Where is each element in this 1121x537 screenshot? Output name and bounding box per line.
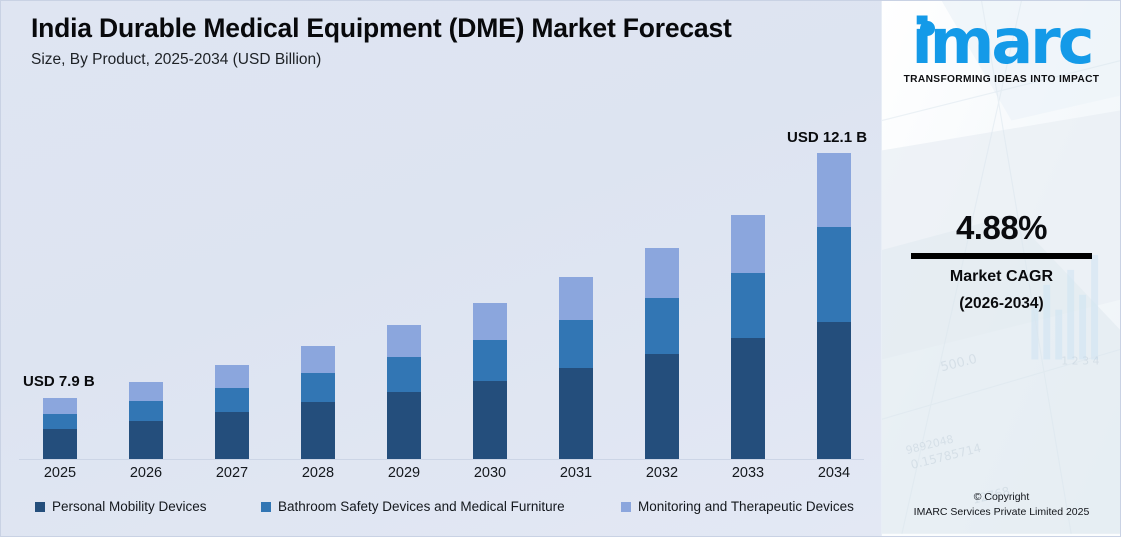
copyright-notice: © Copyright IMARC Services Private Limit… xyxy=(882,490,1120,520)
bar-segment-2033-s2 xyxy=(731,215,765,273)
bar-segment-2026-s0 xyxy=(129,421,163,459)
bar-2025 xyxy=(43,398,77,459)
bar-segment-2034-s1 xyxy=(817,227,851,322)
bar-2034 xyxy=(817,153,851,459)
bar-segment-2033-s0 xyxy=(731,338,765,459)
bar-segment-2031-s2 xyxy=(559,277,593,320)
bar-segment-2030-s2 xyxy=(473,303,507,340)
brand-panel: 500.0 0.15785714 12768 9892048 1 2 3 4 i… xyxy=(881,1,1120,536)
legend-label-0: Personal Mobility Devices xyxy=(52,499,207,514)
bar-segment-2033-s1 xyxy=(731,273,765,338)
x-tick-2027: 2027 xyxy=(202,465,262,481)
bar-segment-2029-s2 xyxy=(387,325,421,357)
svg-text:1 2 3 4: 1 2 3 4 xyxy=(1061,354,1099,367)
bar-segment-2027-s1 xyxy=(215,388,249,412)
bar-segment-2028-s2 xyxy=(301,346,335,373)
bar-segment-2032-s2 xyxy=(645,248,679,298)
legend-swatch-icon-2 xyxy=(621,502,631,512)
x-tick-2028: 2028 xyxy=(288,465,348,481)
bar-2028 xyxy=(301,346,335,459)
legend-label-1: Bathroom Safety Devices and Medical Furn… xyxy=(278,499,565,514)
plot-area: USD 7.9 B USD 12.1 B xyxy=(1,1,881,461)
bar-2026 xyxy=(129,382,163,459)
x-tick-2026: 2026 xyxy=(116,465,176,481)
bar-2027 xyxy=(215,365,249,459)
imarc-logo-text: imarc xyxy=(911,5,1091,78)
bar-2029 xyxy=(387,325,421,459)
chart-legend: Personal Mobility DevicesBathroom Safety… xyxy=(1,499,881,514)
legend-item-1[interactable]: Bathroom Safety Devices and Medical Furn… xyxy=(261,499,621,514)
bar-2033 xyxy=(731,215,765,459)
cagr-label: Market CAGR xyxy=(882,268,1120,286)
legend-label-2: Monitoring and Therapeutic Devices xyxy=(638,499,854,514)
bar-2032 xyxy=(645,248,679,459)
legend-swatch-icon-1 xyxy=(261,502,271,512)
bar-segment-2034-s2 xyxy=(817,153,851,227)
x-tick-2030: 2030 xyxy=(460,465,520,481)
bar-segment-2026-s1 xyxy=(129,401,163,421)
bar-segment-2029-s1 xyxy=(387,357,421,392)
x-tick-2034: 2034 xyxy=(804,465,864,481)
bar-segment-2034-s0 xyxy=(817,322,851,459)
bar-segment-2031-s0 xyxy=(559,368,593,459)
chart-infographic: India Durable Medical Equipment (DME) Ma… xyxy=(0,0,1121,537)
bar-segment-2030-s1 xyxy=(473,340,507,381)
bar-segment-2029-s0 xyxy=(387,392,421,459)
bar-segment-2028-s1 xyxy=(301,373,335,402)
x-tick-2031: 2031 xyxy=(546,465,606,481)
bar-2030 xyxy=(473,303,507,459)
bar-segment-2025-s1 xyxy=(43,414,77,429)
end-value-label: USD 12.1 B xyxy=(787,129,867,146)
bar-segment-2030-s0 xyxy=(473,381,507,459)
x-tick-2025: 2025 xyxy=(30,465,90,481)
copyright-line-1: © Copyright xyxy=(882,490,1120,505)
cagr-divider xyxy=(911,253,1092,259)
bar-segment-2031-s1 xyxy=(559,320,593,368)
copyright-line-2: IMARC Services Private Limited 2025 xyxy=(882,505,1120,520)
bar-segment-2025-s2 xyxy=(43,398,77,414)
bar-2031 xyxy=(559,277,593,459)
cagr-value: 4.88% xyxy=(882,209,1120,247)
legend-swatch-icon-0 xyxy=(35,502,45,512)
bar-segment-2025-s0 xyxy=(43,429,77,459)
legend-item-0[interactable]: Personal Mobility Devices xyxy=(35,499,261,514)
bar-segment-2032-s0 xyxy=(645,354,679,459)
x-tick-2033: 2033 xyxy=(718,465,778,481)
bar-segment-2026-s2 xyxy=(129,382,163,401)
start-value-label: USD 7.9 B xyxy=(23,373,95,390)
bar-segment-2027-s0 xyxy=(215,412,249,459)
bar-segment-2028-s0 xyxy=(301,402,335,459)
x-axis-labels: 2025202620272028202920302031203220332034 xyxy=(1,465,881,491)
bar-segment-2032-s1 xyxy=(645,298,679,354)
imarc-logo: imarc TRANSFORMING IDEAS INTO IMPACT xyxy=(882,13,1120,85)
cagr-block: 4.88% Market CAGR (2026-2034) xyxy=(882,209,1120,313)
bar-segment-2027-s2 xyxy=(215,365,249,388)
legend-item-2[interactable]: Monitoring and Therapeutic Devices xyxy=(621,499,854,514)
cagr-period: (2026-2034) xyxy=(882,295,1120,313)
x-tick-2029: 2029 xyxy=(374,465,434,481)
x-axis-baseline xyxy=(19,459,864,460)
x-tick-2032: 2032 xyxy=(632,465,692,481)
chart-panel: India Durable Medical Equipment (DME) Ma… xyxy=(1,1,881,536)
